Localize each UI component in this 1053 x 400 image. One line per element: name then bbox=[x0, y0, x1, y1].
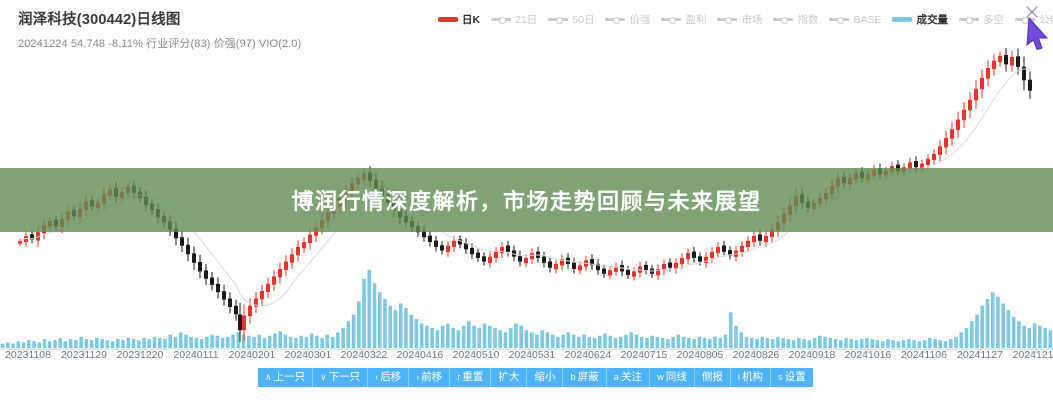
x-tick-label: 20240111 bbox=[173, 349, 218, 361]
toolbar-button-label: 机构 bbox=[742, 372, 763, 383]
toolbar-button-label: 屏蔽 bbox=[578, 372, 599, 383]
toolbar-button-后移[interactable]: ‹后移 bbox=[368, 368, 409, 387]
legend-item-label: 市场 bbox=[741, 12, 762, 27]
toolbar-button-关注[interactable]: a关注 bbox=[607, 368, 650, 387]
toolbar-button-label: 下一只 bbox=[329, 372, 361, 383]
toolbar-button-label: 侧报 bbox=[702, 372, 723, 383]
legend-swatch-icon bbox=[892, 17, 912, 22]
chart-legend: 日K21日50日价强盈利市场指数BASE成交量多空公告内线 bbox=[438, 12, 1053, 27]
x-tick-label: 20240826 bbox=[733, 349, 780, 361]
toolbar-button-prefix: a bbox=[614, 373, 619, 383]
toolbar-button-屏蔽[interactable]: b屏蔽 bbox=[563, 368, 606, 387]
page-title: 润泽科技(300442)日线图 bbox=[18, 8, 301, 29]
toolbar-button-label: 上一只 bbox=[274, 372, 306, 383]
toolbar-button-label: 设置 bbox=[785, 372, 806, 383]
x-tick-label: 20240201 bbox=[229, 349, 276, 361]
legend-item-21日[interactable]: 21日 bbox=[491, 12, 537, 27]
legend-item-label: BASE bbox=[853, 14, 881, 26]
toolbar-button-扩大[interactable]: 扩大 bbox=[491, 368, 527, 387]
toolbar-button-label: 后移 bbox=[380, 372, 401, 383]
toolbar-button-设置[interactable]: s设置 bbox=[771, 368, 813, 387]
toolbar-button-label: 同线 bbox=[666, 372, 687, 383]
toolbar-button-缩小[interactable]: 缩小 bbox=[527, 368, 563, 387]
legend-item-label: 多空 bbox=[983, 12, 1004, 27]
x-tick-label: 20240416 bbox=[397, 349, 444, 361]
legend-item-价强[interactable]: 价强 bbox=[605, 12, 650, 27]
legend-swatch-icon bbox=[605, 18, 625, 21]
x-tick-label: 20241218 bbox=[1013, 349, 1053, 361]
x-tick-label: 20231108 bbox=[5, 349, 51, 361]
x-tick-label: 20241106 bbox=[901, 349, 947, 361]
overlay-banner: 博润行情深度解析，市场走势回顾与未来展望 bbox=[0, 168, 1053, 232]
toolbar-button-侧报[interactable]: 侧报 bbox=[695, 368, 731, 387]
toolbar-button-prefix: w bbox=[657, 373, 664, 383]
legend-item-label: 21日 bbox=[515, 12, 537, 27]
toolbar-button-下一只[interactable]: ∨下一只 bbox=[313, 368, 368, 387]
legend-swatch-icon bbox=[491, 18, 511, 21]
legend-item-label: 价强 bbox=[629, 12, 650, 27]
x-tick-label: 20240531 bbox=[509, 349, 556, 361]
toolbar-button-label: 关注 bbox=[621, 372, 642, 383]
chart-header: 润泽科技(300442)日线图 20241224 54.748 -8.11% 行… bbox=[18, 8, 301, 51]
toolbar-button-机构[interactable]: i机构 bbox=[731, 368, 771, 387]
legend-item-多空[interactable]: 多空 bbox=[959, 12, 1004, 27]
close-icon[interactable] bbox=[1025, 5, 1039, 19]
toolbar-button-前移[interactable]: ›前移 bbox=[409, 368, 450, 387]
legend-item-指数[interactable]: 指数 bbox=[773, 12, 818, 27]
legend-item-label: 50日 bbox=[572, 12, 594, 27]
legend-item-label: 公告 bbox=[1039, 12, 1053, 27]
toolbar-button-上一只[interactable]: ∧上一只 bbox=[258, 368, 313, 387]
x-tick-label: 20240624 bbox=[565, 349, 612, 361]
toolbar-button-prefix: ∧ bbox=[265, 373, 272, 382]
legend-item-label: 盈利 bbox=[685, 12, 706, 27]
legend-item-盈利[interactable]: 盈利 bbox=[661, 12, 706, 27]
toolbar-button-prefix: › bbox=[416, 373, 419, 382]
legend-item-label: 指数 bbox=[797, 12, 818, 27]
legend-swatch-icon bbox=[548, 18, 568, 21]
x-tick-label: 20241127 bbox=[957, 349, 1003, 361]
toolbar-button-prefix: b bbox=[570, 373, 575, 383]
x-tick-label: 20240510 bbox=[453, 349, 500, 361]
legend-swatch-icon bbox=[829, 18, 849, 21]
toolbar-button-prefix: i bbox=[738, 373, 740, 383]
toolbar-button-label: 缩小 bbox=[534, 372, 555, 383]
legend-item-50日[interactable]: 50日 bbox=[548, 12, 594, 27]
legend-item-日K[interactable]: 日K bbox=[438, 12, 480, 27]
volume-bars bbox=[1, 270, 1052, 348]
x-tick-label: 20231220 bbox=[117, 349, 164, 361]
toolbar-button-label: 重置 bbox=[462, 372, 483, 383]
x-tick-label: 20240918 bbox=[789, 349, 836, 361]
toolbar-button-prefix: s bbox=[778, 373, 783, 383]
toolbar-button-label: 前移 bbox=[421, 372, 442, 383]
toolbar-button-重置[interactable]: r重置 bbox=[450, 368, 491, 387]
toolbar-button-同线[interactable]: w同线 bbox=[650, 368, 695, 387]
x-tick-label: 20240301 bbox=[285, 349, 332, 361]
x-tick-label: 20240322 bbox=[341, 349, 388, 361]
legend-swatch-icon bbox=[773, 18, 793, 21]
legend-swatch-icon bbox=[661, 18, 681, 21]
bottom-toolbar[interactable]: ∧上一只∨下一只‹后移›前移r重置扩大缩小b屏蔽a关注w同线侧报i机构s设置 bbox=[258, 368, 813, 387]
x-tick-label: 20231129 bbox=[61, 349, 107, 361]
legend-swatch-icon bbox=[438, 17, 458, 22]
legend-item-label: 成交量 bbox=[916, 12, 948, 27]
legend-item-成交量[interactable]: 成交量 bbox=[892, 12, 948, 27]
toolbar-button-label: 扩大 bbox=[498, 372, 519, 383]
legend-item-市场[interactable]: 市场 bbox=[717, 12, 762, 27]
legend-item-label: 日K bbox=[462, 12, 480, 27]
chart-quote-summary: 20241224 54.748 -8.11% 行业评分(83) 价强(97) V… bbox=[18, 35, 301, 51]
legend-swatch-icon bbox=[717, 18, 737, 21]
overlay-banner-text: 博润行情深度解析，市场走势回顾与未来展望 bbox=[291, 184, 761, 216]
stock-chart-window: 润泽科技(300442)日线图 20241224 54.748 -8.11% 行… bbox=[0, 0, 1053, 400]
x-axis-labels: 2023110820231129202312202024011120240201… bbox=[0, 349, 1053, 365]
toolbar-button-prefix: ∨ bbox=[320, 373, 327, 382]
x-tick-label: 20241016 bbox=[845, 349, 892, 361]
x-tick-label: 20240715 bbox=[621, 349, 668, 361]
toolbar-button-prefix: ‹ bbox=[375, 373, 378, 382]
legend-swatch-icon bbox=[959, 18, 979, 21]
legend-item-BASE[interactable]: BASE bbox=[829, 14, 881, 26]
x-tick-label: 20240805 bbox=[677, 349, 724, 361]
toolbar-button-prefix: r bbox=[457, 373, 460, 383]
